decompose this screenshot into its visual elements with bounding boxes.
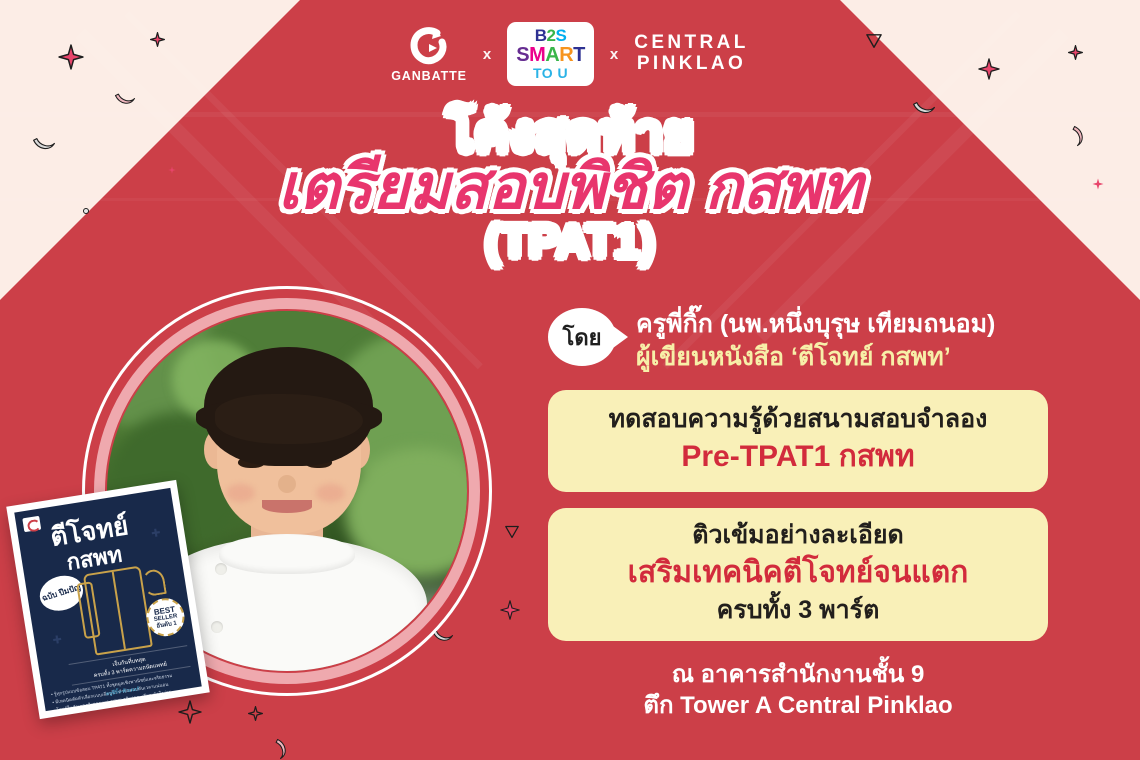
crescent-icon [114,92,136,108]
triangle-icon [504,525,520,539]
feature-card-pretpat1: ทดสอบความรู้ด้วยสนามสอบจำลอง Pre-TPAT1 ก… [548,390,1048,492]
sparkle-icon [248,706,263,721]
central-line2: PINKLAO [637,54,746,75]
b2s-line1: B2S [535,27,567,44]
sparkle-icon [178,700,202,724]
card2-highlight-text: เสริมเทคนิคตีโจทย์จนแตก [564,553,1032,592]
content-column: โดย ครูพี่กิ๊ก (นพ.หนึ่งบุรุษ เทียมถนอม)… [548,306,1048,721]
ganbatte-wordmark: GANBATTE [391,69,467,83]
crescent-icon [272,738,292,760]
venue-block: ณ อาคารสำนักงานชั้น 9 ตึก Tower A Centra… [548,659,1048,721]
ganbatte-logo: GANBATTE [391,26,467,83]
headline-line-2: เตรียมสอบพิชิต กสพท [0,157,1140,219]
speaker-credential: ผู้เขียนหนังสือ ‘ตีโจทย์ กสพท’ [636,342,995,372]
feature-card-intensive: ติวเข้มอย่างละเอียด เสริมเทคนิคตีโจทย์จน… [548,508,1048,641]
byline-bubble: โดย [548,308,616,366]
central-line1: CENTRAL [634,33,749,54]
b2s-line3: TO U [533,66,568,80]
central-pinklao-logo: CENTRAL PINKLAO [634,33,749,74]
card1-highlight-text: Pre-TPAT1 กสพท [564,437,1032,476]
sparkle-icon [500,600,520,620]
promo-banner: GANBATTE x B2S SMART TO U x CENTRAL PINK… [0,0,1140,760]
headline-block: โค้งสุดท้าย เตรียมสอบพิชิต กสพท (TPAT1) [0,108,1140,265]
venue-line-2: ตึก Tower A Central Pinklao [548,690,1048,721]
card2-bottom-text: ครบทั้ง 3 พาร์ต [564,594,1032,627]
logo-separator-2: x [610,46,618,63]
stethoscope-icon [141,568,167,597]
byline: โดย ครูพี่กิ๊ก (นพ.หนึ่งบุรุษ เทียมถนอม)… [548,306,1048,372]
byline-text: ครูพี่กิ๊ก (นพ.หนึ่งบุรุษ เทียมถนอม) ผู้… [636,306,995,372]
book-cover: ตีโจทย์ กสพท ฉบับ ปีมปัญ ✚ ✚ BEST SELLER… [6,480,210,719]
venue-line-1: ณ อาคารสำนักงานชั้น 9 [548,659,1048,690]
b2s-logo: B2S SMART TO U [507,22,594,86]
card1-top-text: ทดสอบความรู้ด้วยสนามสอบจำลอง [564,404,1032,435]
speaker-name: ครูพี่กิ๊ก (นพ.หนึ่งบุรุษ เทียมถนอม) [636,310,995,340]
hair-fringe [215,394,363,444]
book-publisher-logo-icon [22,516,41,532]
logo-separator-1: x [483,46,491,63]
headline-line-3: (TPAT1) [0,217,1140,265]
ganbatte-mark-icon [407,26,451,66]
card2-top-text: ติวเข้มอย่างละเอียด [564,520,1032,551]
b2s-line2: SMART [516,45,585,65]
shirt-collar [219,534,356,574]
logo-row: GANBATTE x B2S SMART TO U x CENTRAL PINK… [0,22,1140,86]
